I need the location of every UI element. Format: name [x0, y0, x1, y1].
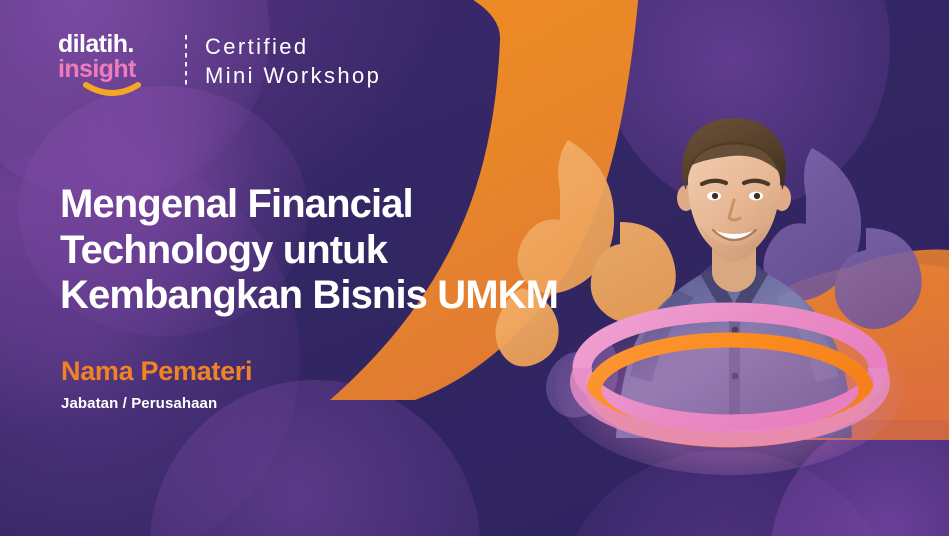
- vertical-dashed-divider-icon: [185, 35, 187, 89]
- logo[interactable]: dilatih. insight: [58, 30, 162, 82]
- headline-line-3: Kembangkan Bisnis UMKM: [60, 273, 620, 319]
- logo-insight-text: insight: [58, 57, 162, 83]
- pupil-left: [712, 193, 718, 199]
- shirt-button-2: [732, 373, 739, 380]
- webinar-promo-banner: dilatih. insight Certified Mini Workshop…: [0, 0, 949, 536]
- shirt-button-1: [732, 327, 739, 334]
- shirt-placket: [729, 306, 740, 438]
- smile-arc-icon: [83, 82, 141, 98]
- page-title: Mengenal Financial Technology untuk Kemb…: [60, 182, 620, 319]
- headline-line-1: Mengenal Financial: [60, 182, 620, 228]
- logo-dilatih-text: dilatih.: [58, 32, 162, 58]
- header-brand-block: dilatih. insight Certified Mini Workshop: [58, 30, 381, 90]
- header-subtitle: Certified Mini Workshop: [205, 30, 381, 90]
- headline-line-2: Technology untuk: [60, 228, 620, 274]
- header-subtitle-line1: Certified: [205, 32, 381, 61]
- speaker-photo-illustration: [608, 108, 860, 438]
- header-subtitle-line2: Mini Workshop: [205, 61, 381, 90]
- speaker-role: Jabatan / Perusahaan: [61, 395, 217, 412]
- speaker-name: Nama Pemateri: [61, 356, 252, 387]
- speaker-photo: [608, 108, 860, 438]
- pupil-right: [754, 193, 760, 199]
